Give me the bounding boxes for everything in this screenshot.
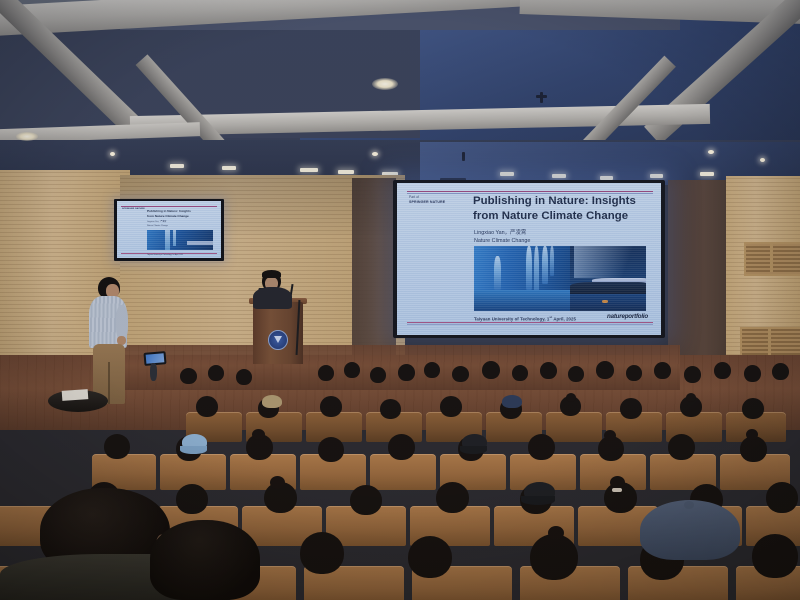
phone-screen <box>146 353 165 364</box>
foreground-head-center <box>150 520 260 600</box>
slide-glacier-image <box>474 246 646 311</box>
podium-speaker-body <box>253 287 292 309</box>
wall-column-dark <box>668 180 728 365</box>
foreground-navy-cap <box>640 500 740 560</box>
slide-footer-date: April, 2025 <box>552 316 576 321</box>
side-monitor-brand: SPRINGER NATURE <box>122 208 145 210</box>
slide-author-name: Lingxiao Yan，严凌霄 <box>474 229 526 237</box>
hair-clip <box>612 488 622 492</box>
slide-footer-venue: Taiyuan University of Technology, 1 <box>474 316 549 321</box>
audience-phone-recorder <box>140 352 180 392</box>
ceiling <box>0 0 800 185</box>
cap-tan <box>262 395 282 408</box>
podium-speaker-hair-front <box>262 270 281 278</box>
side-monitor-title-1: Publishing in Nature: Insights <box>147 209 191 213</box>
vent-divider-lower <box>768 327 771 355</box>
slide-footer: Taiyuan University of Technology, 1st Ap… <box>474 315 576 321</box>
slide-title-line-2: from Nature Climate Change <box>473 209 628 224</box>
side-monitor-author-1: Lingxiao Yan，严凌霄 <box>147 221 166 224</box>
nature-portfolio-logo: natureportfolio <box>607 313 648 320</box>
side-monitor-image <box>147 230 213 250</box>
side-monitor-screen: SPRINGER NATURE Publishing in Nature: In… <box>117 201 221 258</box>
podium-emblem-icon <box>268 330 288 350</box>
vent-divider-upper <box>770 242 773 272</box>
recorder-arm <box>150 363 157 381</box>
slide-author-affiliation: Nature Climate Change <box>474 237 530 245</box>
springer-nature-logo: SPRINGER NATURE <box>409 200 445 204</box>
cap-navy <box>502 395 522 408</box>
foreground-navy-cap-button <box>684 501 694 509</box>
side-monitor-footer: Taiyuan University of Technology, 1st Ap… <box>147 254 183 256</box>
side-monitor-author-2: Nature Climate Change <box>147 225 168 228</box>
side-monitor-title-2: from Nature Climate Change <box>147 214 189 218</box>
auditorium-photo: SPRINGER NATURE Publishing in Nature: In… <box>0 0 800 600</box>
projection-screen: Part of SPRINGER NATURE Publishing in Na… <box>397 183 661 335</box>
slide-title-line-1: Publishing in Nature: Insights <box>473 194 636 209</box>
slide-bottom-rule-2 <box>407 324 653 325</box>
